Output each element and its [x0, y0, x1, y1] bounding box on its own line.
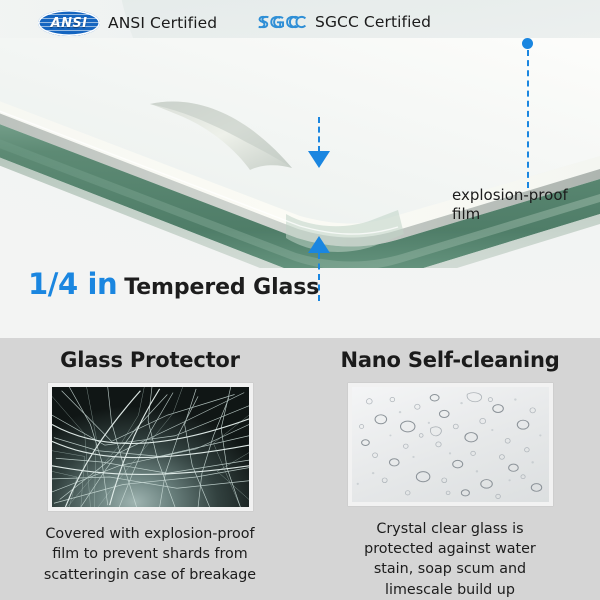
callout-label-line-1: explosion-proof: [452, 186, 592, 205]
arrow-up-icon: [308, 236, 330, 253]
callout-label-line-2: film: [452, 205, 592, 224]
certification-sgcc: SGCC Certified: [255, 10, 431, 34]
shattered-glass-photo: [48, 383, 253, 511]
callout-label-explosion-proof-film: explosion-proof film: [452, 186, 592, 224]
feature-nano-self-cleaning: Nano Self-cleaning: [300, 338, 600, 600]
arrow-down-icon: [308, 151, 330, 168]
thickness-value: 1/4 in: [28, 267, 117, 301]
water-droplets-on-glass-photo: [348, 383, 553, 506]
thickness-text: Tempered Glass: [124, 275, 319, 300]
tempered-glass-corner-illustration: [0, 38, 600, 268]
shattered-glass-cracks: [52, 387, 249, 507]
feature-title: Glass Protector: [60, 348, 240, 372]
feature-caption: Covered with explosion-proof film to pre…: [43, 524, 258, 585]
ansi-logo-text: ANSI: [38, 10, 100, 36]
features-panel: Glass Protector: [0, 338, 600, 600]
certification-sgcc-label: SGCC Certified: [315, 13, 431, 31]
certification-row: ANSI ANSI Certified: [0, 0, 600, 44]
product-infographic: ANSI ANSI Certified: [0, 0, 600, 600]
callout-line-explosion-proof-film: [527, 50, 529, 188]
feature-title: Nano Self-cleaning: [340, 348, 559, 372]
sgcc-logo-icon: [255, 10, 307, 34]
certification-ansi-label: ANSI Certified: [108, 14, 217, 32]
hero-panel: ANSI ANSI Certified: [0, 0, 600, 338]
thickness-label: 1/4 in Tempered Glass: [28, 267, 319, 301]
sgcc-logo-svg: [255, 10, 307, 34]
feature-glass-protector: Glass Protector: [0, 338, 300, 600]
water-droplets: [352, 387, 549, 502]
ansi-logo-icon: ANSI: [38, 10, 100, 36]
feature-caption: Crystal clear glass is protected against…: [343, 519, 558, 600]
callout-dot-explosion-proof-film: [522, 38, 533, 49]
callout-line-film-layer: [318, 117, 320, 152]
certification-ansi: ANSI ANSI Certified: [38, 10, 217, 36]
glass-corner-svg: [0, 38, 600, 268]
